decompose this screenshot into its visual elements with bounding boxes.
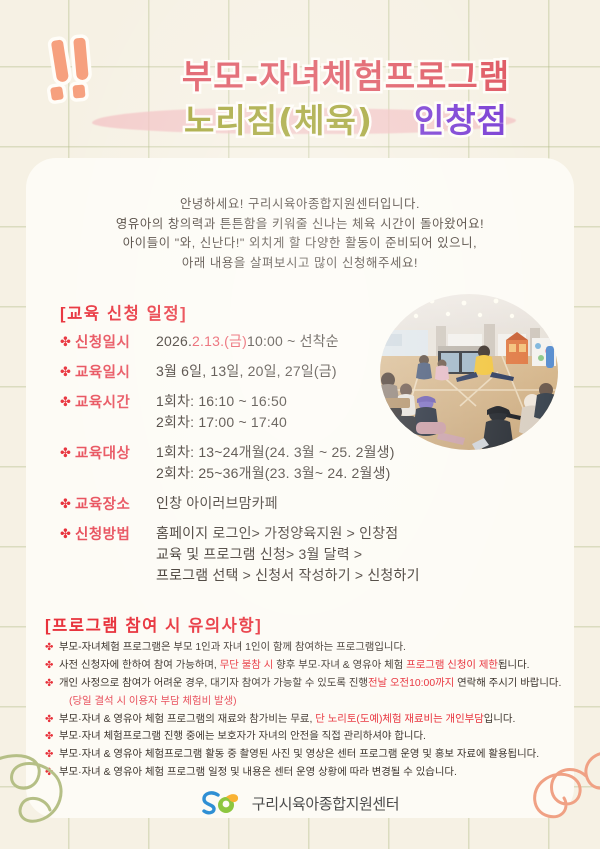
notice-text: 전날 오전10:00까지	[368, 678, 454, 689]
footer-logo-block: 구리시육아종합지원센터	[0, 786, 600, 820]
schedule-value: 1회차: 16:10 ~ 16:50 2회차: 17:00 ~ 17:40	[156, 391, 460, 433]
schedule-label: 교육장소	[75, 493, 130, 514]
notice-item: ✤부모-자녀체험 프로그램은 부모 1인과 자녀 1인이 함께 참여하는 프로그…	[45, 641, 560, 656]
schedule-row-target: ✤ 교육대상 1회차: 13~24개월(24. 3월 ~ 25. 2월생) 2회…	[60, 442, 460, 484]
sc-swirl-logo-icon	[201, 790, 243, 816]
notice-text: 사전 신청자에 한하여 참여 가능하며,	[59, 660, 220, 671]
notice-text: 프로그램 신청이 제한	[406, 660, 498, 671]
poster-background: 부모-자녀체험프로그램 노리짐(체육) 인창점 안녕하세요! 구리시육아종합지원…	[0, 0, 600, 849]
bullet-icon: ✤	[45, 659, 53, 674]
schedule-value: 2026.2.13.(금)10:00 ~ 선착순	[156, 331, 460, 352]
schedule-label: 교육일시	[75, 361, 130, 382]
bullet-icon: ✤	[45, 730, 53, 745]
notice-text: 입니다.	[484, 714, 516, 725]
title-line-2: 노리짐(체육) 인창점	[0, 94, 600, 142]
title-text-program: 부모-자녀체험프로그램	[182, 57, 510, 96]
notice-text: 부모·자녀 & 영유아 체험 프로그램 일정 및 내용은 센터 운영 상황에 따…	[59, 767, 457, 778]
schedule-label: 교육시간	[75, 391, 130, 412]
bullet-icon: ✤	[60, 363, 71, 380]
notice-item: ✤사전 신청자에 한하여 참여 가능하며, 무단 불참 시 향후 부모·자녀 &…	[45, 659, 560, 674]
title-text-branch: 인창점	[414, 101, 508, 140]
notice-item: ✤부모·자녀 체험프로그램 진행 중에는 보호자가 자녀의 안전을 직접 관리하…	[45, 730, 560, 745]
notice-text: 부모-자녀체험 프로그램은 부모 1인과 자녀 1인이 함께 참여하는 프로그램…	[59, 642, 406, 653]
bullet-icon: ✤	[45, 641, 53, 656]
bullet-icon: ✤	[60, 393, 71, 410]
title-line-1: 부모-자녀체험프로그램	[0, 50, 600, 98]
apply-step-2: 교육 및 프로그램 신청> 3월 달력 >	[156, 544, 460, 565]
poster-title: 부모-자녀체험프로그램 노리짐(체육) 인창점	[0, 24, 600, 146]
schedule-row-location: ✤ 교육장소 인창 아이러브맘카페	[60, 493, 460, 514]
bullet-icon: ✤	[60, 495, 71, 512]
schedule-value: 3월 6일, 13일, 20일, 27일(금)	[156, 361, 460, 382]
bullet-icon: ✤	[60, 525, 71, 542]
notice-item: ✤부모·자녀 & 영유아 체험 프로그램 일정 및 내용은 센터 운영 상황에 …	[45, 766, 560, 781]
schedule-row-how-to-apply: ✤ 신청방법 홈페이지 로그인> 가정양육지원 > 인창점 교육 및 프로그램 …	[60, 523, 460, 586]
schedule-label: 교육대상	[75, 442, 130, 463]
intro-line-3: 아이들이 "와, 신난다!" 외치게 할 다양한 활동이 준비되어 있으니,	[26, 234, 574, 254]
schedule-label: 신청일시	[75, 331, 130, 352]
class-time-session-1: 1회차: 16:10 ~ 16:50	[156, 391, 460, 412]
schedule-row-apply-date: ✤ 신청일시 2026.2.13.(금)10:00 ~ 선착순	[60, 331, 460, 352]
notices-list: ✤부모-자녀체험 프로그램은 부모 1인과 자녀 1인이 함께 참여하는 프로그…	[45, 641, 560, 784]
notice-text: 부모·자녀 체험프로그램 진행 중에는 보호자가 자녀의 안전을 직접 관리하셔…	[59, 731, 426, 742]
intro-line-4: 아래 내용을 살펴보시고 많이 신청해주세요!	[26, 254, 574, 274]
notice-item: (당일 결석 시 이용자 부담 체험비 발생)	[45, 695, 560, 710]
class-time-session-2: 2회차: 17:00 ~ 17:40	[156, 412, 460, 433]
bullet-icon: ✤	[45, 713, 53, 728]
notice-text: 단 노리토(도예)체험 재료비는 개인부담	[315, 714, 484, 725]
intro-paragraph: 안녕하세요! 구리시육아종합지원센터입니다. 영유아의 창의력과 튼튼함을 키워…	[26, 195, 574, 273]
notice-text: 부모·자녀 & 영유아 체험프로그램 활동 중 촬영된 사진 및 영상은 센터 …	[59, 749, 539, 760]
apply-date-post: 10:00 ~ 선착순	[247, 333, 339, 349]
notice-item: ✤부모·자녀 & 영유아 체험 프로그램의 재료와 참가비는 무료, 단 노리토…	[45, 713, 560, 728]
notice-item: ✤부모·자녀 & 영유아 체험프로그램 활동 중 촬영된 사진 및 영상은 센터…	[45, 748, 560, 763]
notice-item: ✤개인 사정으로 참여가 어려운 경우, 대기자 참여가 가능할 수 있도록 진…	[45, 677, 560, 692]
schedule-value: 홈페이지 로그인> 가정양육지원 > 인창점 교육 및 프로그램 신청> 3월 …	[156, 523, 460, 586]
intro-line-1: 안녕하세요! 구리시육아종합지원센터입니다.	[26, 195, 574, 215]
schedule-value: 1회차: 13~24개월(24. 3월 ~ 25. 2월생) 2회차: 25~3…	[156, 442, 460, 484]
schedule-row-class-time: ✤ 교육시간 1회차: 16:10 ~ 16:50 2회차: 17:00 ~ 1…	[60, 391, 460, 433]
notice-text: 향후 부모·자녀 & 영유아 체험	[273, 660, 406, 671]
schedule-heading: [교육 신청 일정]	[60, 300, 187, 324]
schedule-label: 신청방법	[75, 523, 130, 544]
bullet-icon: ✤	[60, 444, 71, 461]
title-text-norizim: 노리짐(체육)	[184, 101, 373, 140]
target-session-1: 1회차: 13~24개월(24. 3월 ~ 25. 2월생)	[156, 442, 460, 463]
notice-text: 개인 사정으로 참여가 어려운 경우, 대기자 참여가 가능할 수 있도록 진행	[59, 678, 368, 689]
notice-text: 연락해 주시기 바랍니다.	[454, 678, 561, 689]
bullet-icon: ✤	[60, 333, 71, 350]
bullet-icon: ✤	[45, 677, 53, 692]
apply-step-1: 홈페이지 로그인> 가정양육지원 > 인창점	[156, 523, 460, 544]
apply-date-pre: 2026.	[156, 333, 192, 349]
notice-text: 무단 불참 시	[220, 660, 274, 671]
target-session-2: 2회차: 25~36개월(23. 3월~ 24. 2월생)	[156, 463, 460, 484]
apply-step-3: 프로그램 선택 > 신청서 작성하기 > 신청하기	[156, 565, 460, 586]
apply-date-accent: 2.13.(금)	[192, 333, 247, 349]
schedule-row-class-date: ✤ 교육일시 3월 6일, 13일, 20일, 27일(금)	[60, 361, 460, 382]
schedule-list: ✤ 신청일시 2026.2.13.(금)10:00 ~ 선착순 ✤ 교육일시 3…	[60, 331, 460, 589]
intro-line-2: 영유아의 창의력과 튼튼함을 키워줄 신나는 체육 시간이 돌아왔어요!	[26, 215, 574, 235]
organization-name: 구리시육아종합지원센터	[252, 793, 399, 814]
bullet-icon: ✤	[45, 748, 53, 763]
notice-text: (당일 결석 시 이용자 부담 체험비 발생)	[69, 696, 237, 707]
bullet-icon: ✤	[45, 766, 53, 781]
notice-text: 됩니다.	[498, 660, 530, 671]
schedule-value: 인창 아이러브맘카페	[156, 493, 460, 514]
notice-text: 부모·자녀 & 영유아 체험 프로그램의 재료와 참가비는 무료,	[59, 714, 315, 725]
notices-heading: [프로그램 참여 시 유의사항]	[45, 612, 262, 636]
